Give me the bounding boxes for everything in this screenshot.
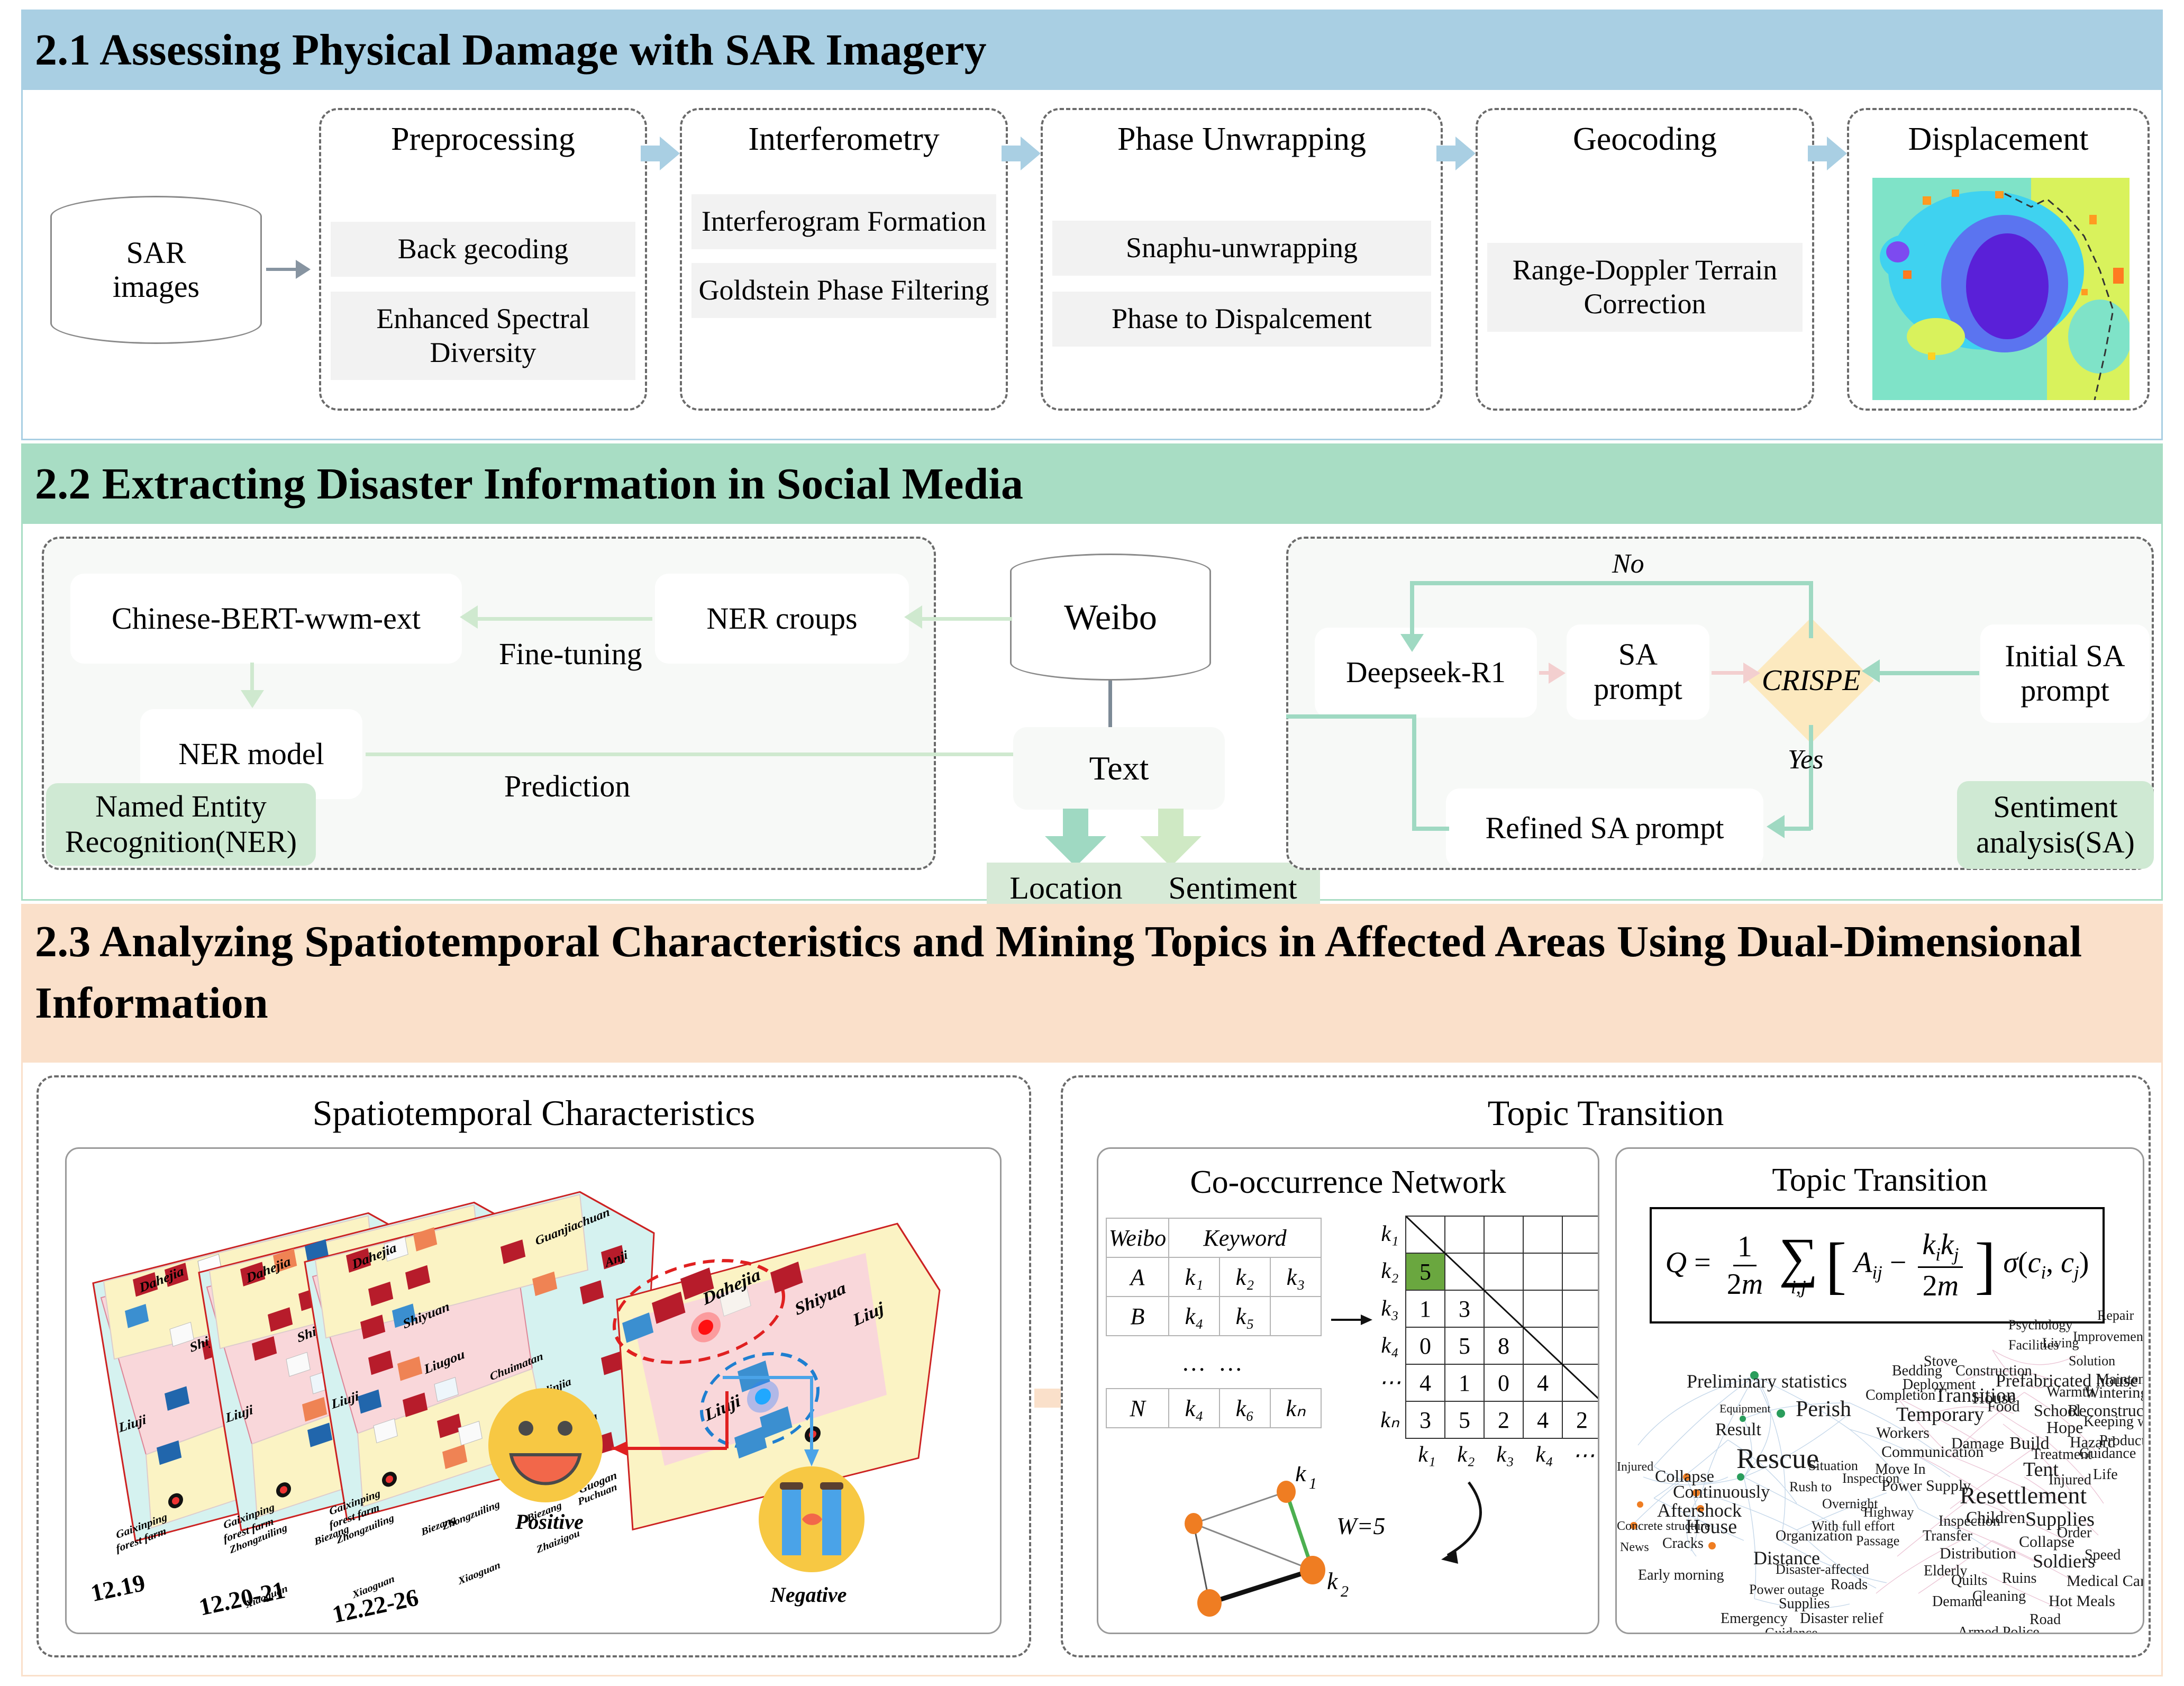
topic-word-blue-1: Perish [1796, 1397, 1851, 1422]
row-0-weibo: A [1106, 1257, 1169, 1297]
refined-to-deepseek-edge-b [1412, 714, 1416, 829]
cell-3-3 [1523, 1327, 1562, 1364]
cell-5-4: 2 [1562, 1401, 1599, 1438]
matrix-row: 35242 [1406, 1401, 1599, 1438]
topic-outer-title: Topic Transition [1063, 1092, 2149, 1134]
sar-source-line1: SAR [126, 236, 186, 270]
weibo-label: Weibo [1064, 597, 1157, 637]
stage-interferometry-step-0: Interferogram Formation [691, 194, 996, 249]
matrix-collabel-3: k₄ [1525, 1442, 1564, 1469]
text-node: Text [1013, 727, 1225, 810]
matrix-row: 4104 [1406, 1364, 1599, 1401]
cell-3-4 [1562, 1327, 1599, 1364]
cell-1-0: 5 [1406, 1253, 1445, 1290]
stage-preprocessing-title: Preprocessing [321, 115, 645, 158]
topic-word-blue-13: Injured [1617, 1460, 1653, 1474]
stage-interferometry-step-1: Goldstein Phase Filtering [691, 263, 996, 318]
table-to-matrix-arrow [1331, 1313, 1372, 1329]
topic-word-pink-42: Speed [2085, 1547, 2121, 1564]
row-2-ellipsis: … … [1106, 1336, 1321, 1389]
sar-to-preprocessing-arrow [266, 268, 308, 271]
cell-1-1 [1445, 1253, 1484, 1290]
cell-2-0: 1 [1406, 1290, 1445, 1327]
section-2-1-title: 2.1 Assessing Physical Damage with SAR I… [21, 10, 2163, 90]
table-header-row: Weibo Keyword [1106, 1218, 1321, 1257]
topic-word-pink-54: Inspection [1939, 1513, 2000, 1530]
row-1-kw-1: k₅ [1220, 1297, 1270, 1336]
topic-transition-title: Topic Transition [1617, 1162, 2143, 1199]
stage-preprocessing: Preprocessing Back gecoding Enhanced Spe… [319, 108, 647, 411]
modularity-formula: Q = 12m ∑i,j [ Aij − kikj2m ] σ(ci, cj) [1666, 1228, 2089, 1303]
topic-word-pink-9: Move In [1875, 1461, 1926, 1478]
topic-word-blue-25: Passage [1856, 1533, 1899, 1549]
stage-displacement: Displacement [1847, 108, 2150, 411]
topic-word-pink-32: Wintering [2085, 1384, 2144, 1402]
matrix-collabel-1: k₂ [1446, 1442, 1486, 1469]
ner-corpus-node: NER croups [655, 574, 909, 664]
prompt-to-crispe-edge [1712, 671, 1744, 675]
topic-word-pink-46: Armed Police [1958, 1624, 2040, 1634]
row-0-kw-1: k₂ [1220, 1257, 1270, 1297]
row-0-kw-0: k₁ [1169, 1257, 1220, 1297]
sa-prompt-line2: prompt [1594, 672, 1682, 706]
cell-0-0 [1406, 1216, 1445, 1253]
row-3-kw-2: kₙ [1270, 1389, 1321, 1428]
topic-word-pink-43: Medical Care [2067, 1572, 2144, 1590]
initial-sa-prompt-node: Initial SA prompt [1980, 624, 2150, 723]
row-3-kw-0: k₄ [1169, 1389, 1220, 1428]
cell-0-4 [1562, 1216, 1599, 1253]
yes-branch-left-edge [1785, 827, 1811, 831]
keyword-table-wrap: Weibo Keyword A k₁ k₂ k₃ B k₄ k₅ [1106, 1218, 1322, 1428]
stage-geocoding-step-0: Range-Doppler Terrain Correction [1487, 243, 1803, 331]
stage-geocoding-title: Geocoding [1478, 115, 1812, 158]
stage-phase-unwrapping: Phase Unwrapping Snaphu-unwrapping Phase… [1041, 108, 1443, 411]
topic-word-pink-53: Transfer [1923, 1528, 1972, 1545]
topic-word-pink-6: Completion [1866, 1387, 1935, 1404]
svg-text:1: 1 [1309, 1475, 1317, 1492]
refined-to-deepseek-edge-c [1286, 714, 1414, 719]
positive-emoji-icon [488, 1388, 603, 1502]
matrix-rowlabel-5: kₙ [1379, 1402, 1401, 1439]
topic-word-blue-12: Concrete structure [1617, 1519, 1710, 1534]
table-row: N k₄ k₆ kₙ [1106, 1389, 1321, 1428]
cell-4-3: 4 [1523, 1364, 1562, 1401]
stage-preprocessing-step-0: Back gecoding [331, 222, 635, 277]
topic-word-pink-35: Psychology [2008, 1317, 2072, 1333]
topic-word-blue-29: Guidance [1765, 1625, 1818, 1634]
bert-to-ner-model-arrowhead [241, 690, 264, 708]
cell-0-2 [1484, 1216, 1523, 1253]
no-branch-up-edge [1809, 581, 1813, 638]
row-0-kw-2: k₃ [1270, 1257, 1321, 1297]
finetune-arrowhead [460, 605, 478, 629]
topic-word-pink-33: Keeping warm [2083, 1413, 2144, 1430]
matrix-wrap: k₁ k₂ k₃ k₄ ⋯ kₙ 5 13 058 4104 [1379, 1216, 1599, 1469]
svg-text:k: k [1295, 1466, 1307, 1486]
cooccurrence-title: Co-occurrence Network [1098, 1164, 1598, 1201]
section-2-2: 2.2 Extracting Disaster Information in S… [21, 443, 2163, 901]
initial-to-crispe-arrowhead [1862, 659, 1880, 683]
table-row-ellipsis: … … [1106, 1336, 1321, 1389]
svg-text:Positive: Positive [515, 1510, 584, 1534]
svg-text:2: 2 [1341, 1583, 1349, 1600]
sa-tag-line1: Sentiment [1993, 790, 2117, 825]
topic-word-blue-3: Result [1715, 1420, 1761, 1440]
topic-word-pink-7: Workers [1876, 1424, 1930, 1442]
arrow-unwrapping-to-geocoding [1436, 137, 1476, 170]
topic-word-blue-2: Rescue [1736, 1442, 1819, 1475]
cell-1-2 [1484, 1253, 1523, 1290]
topic-word-pink-29: Improvement [2073, 1329, 2144, 1345]
weibo-to-corpus-edge [922, 617, 1012, 621]
section-2-3-body: Spatiotemporal Characteristics [21, 1063, 2163, 1676]
cell-2-3 [1523, 1290, 1562, 1327]
no-branch-down-edge [1410, 581, 1414, 637]
stage-phase-unwrapping-step-0: Snaphu-unwrapping [1052, 221, 1431, 276]
topic-word-pink-48: Cleaning [1972, 1588, 2026, 1605]
col-header-keyword: Keyword [1169, 1218, 1321, 1257]
cell-4-0: 4 [1406, 1364, 1445, 1401]
spatiotemporal-map-card: Dahejia Shiyu Liuji Gaixinping forest fa… [65, 1147, 1002, 1634]
negative-emoji-icon [759, 1466, 865, 1572]
topic-word-blue-11: News [1620, 1540, 1649, 1555]
section-2-2-title: 2.2 Extracting Disaster Information in S… [21, 443, 2163, 524]
matrix-rowlabel-1: k₂ [1379, 1253, 1401, 1290]
topic-transition-card: Topic Transition Q = 12m ∑i,j [ Aij − ki… [1615, 1147, 2144, 1634]
cell-2-4 [1562, 1290, 1599, 1327]
cell-4-2: 0 [1484, 1364, 1523, 1401]
cell-0-1 [1445, 1216, 1484, 1253]
cooccurrence-card: Co-occurrence Network Weibo Keyword A k₁… [1097, 1147, 1599, 1634]
topic-word-pink-38: Injured [2049, 1472, 2091, 1489]
cell-4-4 [1562, 1364, 1599, 1401]
topic-word-blue-9: Cracks [1662, 1535, 1704, 1552]
displacement-interferogram-image [1872, 178, 2130, 400]
topic-word-blue-22: Disaster-affected [1776, 1562, 1869, 1578]
svg-text:Xiaoguan: Xiaoguan [457, 1560, 502, 1588]
cell-2-2 [1484, 1290, 1523, 1327]
cell-1-4 [1562, 1253, 1599, 1290]
topic-word-pink-52: Distribution [1940, 1545, 2016, 1563]
matrix-col-labels: k₁ k₂ k₃ k₄ ⋯ kₙ [1407, 1442, 1599, 1469]
prediction-edge [366, 753, 1022, 756]
row-3-kw-1: k₆ [1220, 1389, 1270, 1428]
section-2-1-body: SAR images Preprocessing Back gecoding E… [21, 90, 2163, 440]
matrix-row: 058 [1406, 1327, 1599, 1364]
refined-to-deepseek-edge-a [1412, 827, 1449, 831]
row-3-weibo: N [1106, 1389, 1169, 1428]
matrix-rowlabel-3: k₄ [1379, 1327, 1401, 1364]
matrix-row [1406, 1216, 1599, 1253]
matrix-rowlabel-2: k₃ [1379, 1290, 1401, 1327]
topic-word-pink-10: Power Supply [1881, 1477, 1971, 1495]
chinese-bert-node: Chinese-BERT-wwm-ext [70, 574, 462, 664]
weibo-datastore: Weibo [1010, 554, 1211, 681]
topic-word-blue-0: Preliminary statistics [1687, 1370, 1847, 1392]
weibo-to-text-arrow [1108, 681, 1112, 730]
prediction-label: Prediction [504, 768, 630, 804]
ner-tag-label: Named Entity Recognition(NER) [53, 789, 308, 859]
topic-word-blue-10: Early morning [1638, 1567, 1724, 1584]
table-row: A k₁ k₂ k₃ [1106, 1257, 1321, 1297]
cell-3-0: 0 [1406, 1327, 1445, 1364]
bert-to-ner-model-edge [250, 663, 254, 692]
topic-word-pink-34: Production [2099, 1433, 2144, 1449]
finetune-label: Fine-tuning [499, 636, 642, 672]
topic-word-blue-16: Rush to [1789, 1479, 1832, 1495]
stage-phase-unwrapping-step-1: Phase to Dispalcement [1052, 292, 1431, 347]
stage-interferometry: Interferometry Interferogram Formation G… [680, 108, 1008, 411]
no-branch-arrowhead [1400, 634, 1424, 652]
initial-prompt-line1: Initial SA [2005, 639, 2125, 674]
matrix-row: 5 [1406, 1253, 1599, 1290]
matrix-row: 13 [1406, 1290, 1599, 1327]
text-to-location-arrow [1044, 809, 1107, 871]
yes-branch-arrowhead [1767, 815, 1785, 838]
cell-5-2: 2 [1484, 1401, 1523, 1438]
cell-4-1: 1 [1445, 1364, 1484, 1401]
matrix-collabel-0: k₁ [1407, 1442, 1446, 1469]
modularity-formula-box: Q = 12m ∑i,j [ Aij − kikj2m ] σ(ci, cj) [1650, 1207, 2105, 1324]
svg-text:k: k [1327, 1567, 1339, 1594]
section-2-3: 2.3 Analyzing Spatiotemporal Characteris… [21, 904, 2163, 1676]
initial-to-crispe-edge [1880, 671, 1979, 675]
topic-word-pink-51: Elderly [1924, 1563, 1967, 1580]
spatiotemporal-map-svg: Dahejia Shiyu Liuji Gaixinping forest fa… [67, 1149, 1002, 1634]
sar-images-datastore: SAR images [50, 196, 262, 344]
stage-preprocessing-step-1: Enhanced Spectral Diversity [331, 292, 635, 380]
deepseek-node: Deepseek-R1 [1315, 628, 1537, 718]
matrix-row-labels: k₁ k₂ k₃ k₄ ⋯ kₙ [1379, 1216, 1401, 1439]
matrix-collabel-2: k₃ [1486, 1442, 1525, 1469]
arrow-interferometry-to-unwrapping [1002, 137, 1041, 170]
matrix-rowlabel-0: k₁ [1379, 1216, 1401, 1253]
sa-prompt-line1: SA [1618, 638, 1658, 672]
topic-word-pink-37: Life [2093, 1466, 2118, 1483]
yes-branch-down-edge [1809, 725, 1813, 830]
spatiotemporal-title: Spatiotemporal Characteristics [39, 1092, 1029, 1134]
topic-word-blue-24: Roads [1831, 1576, 1868, 1593]
weibo-to-corpus-arrowhead [904, 605, 922, 629]
text-to-sentiment-arrow [1139, 809, 1203, 871]
stage-displacement-title: Displacement [1849, 115, 2147, 158]
sa-prompt-node: SA prompt [1567, 624, 1709, 720]
yes-label: Yes [1788, 744, 1823, 775]
cooccurrence-graph: k1 k2 W=5 [1130, 1466, 1569, 1625]
cell-1-3 [1523, 1253, 1562, 1290]
cell-2-1: 3 [1445, 1290, 1484, 1327]
topic-word-blue-4: Equipment [1719, 1402, 1771, 1416]
crispe-label: CRISPE [1762, 664, 1861, 697]
section-2-3-title: 2.3 Analyzing Spatiotemporal Characteris… [21, 904, 2163, 1063]
table-row: B k₄ k₅ [1106, 1297, 1321, 1336]
no-branch-top-edge [1410, 581, 1813, 585]
topic-word-pink-44: Hot Meals [2049, 1592, 2115, 1610]
row-1-kw-2 [1270, 1297, 1321, 1336]
stage-phase-unwrapping-title: Phase Unwrapping [1043, 115, 1441, 158]
topic-word-blue-21: With full effort [1812, 1518, 1895, 1534]
finetune-edge [478, 617, 652, 621]
topic-word-pink-5: Temporary [1896, 1403, 1984, 1426]
sar-source-line2: images [113, 270, 199, 304]
sa-tag-line2: analysis(SA) [1976, 825, 2135, 860]
section-2-2-body: Chinese-BERT-wwm-ext NER croups NER mode… [21, 524, 2163, 901]
matrix-rowlabel-4: ⋯ [1379, 1364, 1401, 1401]
initial-prompt-line2: prompt [2021, 674, 2109, 708]
topic-word-pink-30: Solution [2069, 1353, 2115, 1369]
sa-tag-badge: Sentiment analysis(SA) [1957, 781, 2154, 869]
arrow-preprocessing-to-interferometry [641, 137, 680, 170]
cell-5-3: 4 [1523, 1401, 1562, 1438]
cell-5-0: 3 [1406, 1401, 1445, 1438]
no-label: No [1612, 548, 1644, 579]
refined-sa-prompt-node: Refined SA prompt [1446, 788, 1763, 868]
matrix-collabel-4: ⋯ [1564, 1442, 1599, 1469]
topic-word-pink-36: Repair [2097, 1308, 2134, 1324]
topic-word-pink-12: Damage [1951, 1435, 2004, 1453]
row-1-kw-0: k₄ [1169, 1297, 1220, 1336]
row-1-weibo: B [1106, 1297, 1169, 1336]
prompt-to-crispe-arrowhead [1743, 663, 1760, 684]
svg-text:Negative: Negative [770, 1583, 847, 1607]
stage-interferometry-title: Interferometry [682, 115, 1006, 158]
topic-word-pink-50: Ruins [2002, 1570, 2036, 1587]
cell-3-1: 5 [1445, 1327, 1484, 1364]
stage-geocoding: Geocoding Range-Doppler Terrain Correcti… [1476, 108, 1814, 411]
topic-word-pink-40: Collapse [2019, 1533, 2074, 1551]
cell-0-3 [1523, 1216, 1562, 1253]
arrow-geocoding-to-displacement [1808, 137, 1847, 170]
deepseek-to-prompt-arrowhead [1549, 663, 1566, 684]
ner-tag-badge: Named Entity Recognition(NER) [46, 783, 316, 866]
cell-3-2: 8 [1484, 1327, 1523, 1364]
section-2-1: 2.1 Assessing Physical Damage with SAR I… [21, 10, 2163, 440]
svg-text:W=5: W=5 [1336, 1512, 1385, 1539]
cell-5-1: 5 [1445, 1401, 1484, 1438]
col-header-weibo: Weibo [1106, 1218, 1169, 1257]
keyword-table: Weibo Keyword A k₁ k₂ k₃ B k₄ k₅ [1106, 1218, 1322, 1428]
cooccurrence-matrix: 5 13 058 4104 35242 [1405, 1216, 1599, 1439]
